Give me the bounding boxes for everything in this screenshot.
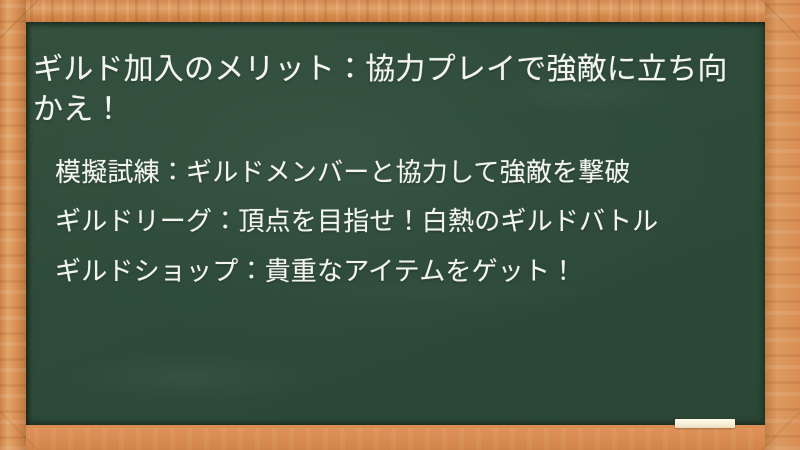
- frame-rail-top: [0, 0, 800, 22]
- frame-ledge-bottom: [0, 428, 800, 450]
- slide-title: ギルド加入のメリット：協力プレイで強敵に立ち向かえ！: [33, 50, 745, 130]
- slide-content: ギルド加入のメリット：協力プレイで強敵に立ち向かえ！ 模擬試練：ギルドメンバーと…: [26, 22, 765, 425]
- frame-rail-left: [0, 0, 26, 450]
- bullet-item-2: ギルドリーグ：頂点を目指せ！白熱のギルドバトル: [55, 204, 745, 239]
- slide-bullet-list: 模擬試練：ギルドメンバーと協力して強敵を撃破 ギルドリーグ：頂点を目指せ！白熱の…: [55, 155, 745, 289]
- chalkboard-surface: ギルド加入のメリット：協力プレイで強敵に立ち向かえ！ 模擬試練：ギルドメンバーと…: [26, 22, 765, 425]
- bullet-item-1: 模擬試練：ギルドメンバーと協力して強敵を撃破: [55, 155, 745, 190]
- bullet-item-3: ギルドショップ：貴重なアイテムをゲット！: [55, 254, 745, 289]
- blackboard-slide: ギルド加入のメリット：協力プレイで強敵に立ち向かえ！ 模擬試練：ギルドメンバーと…: [0, 0, 800, 450]
- frame-rail-right: [765, 0, 800, 450]
- chalk-stick-icon: [675, 419, 735, 428]
